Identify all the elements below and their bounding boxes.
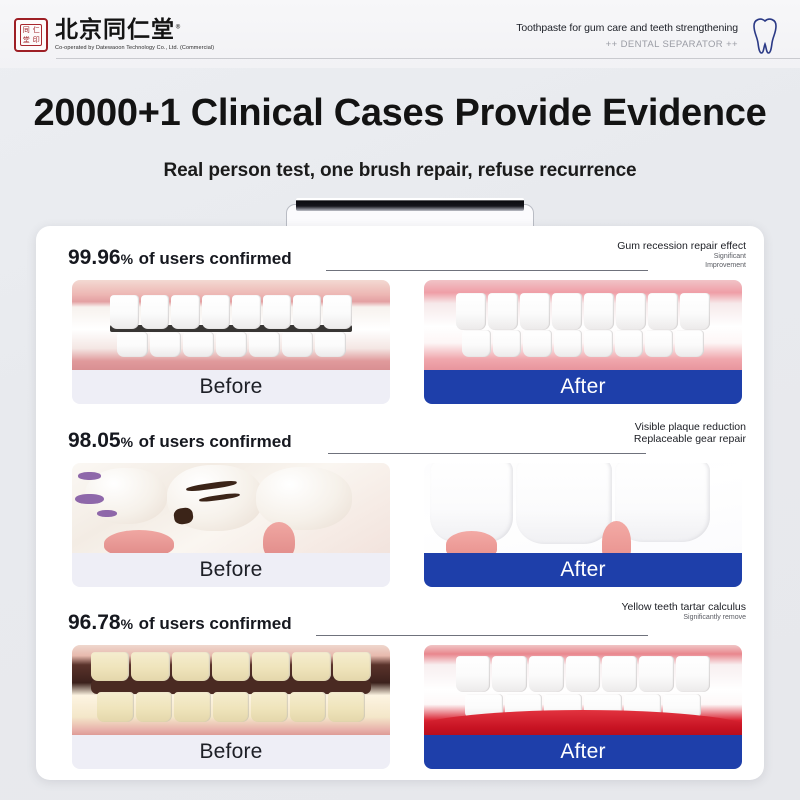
annotation-title: Visible plaque reduction	[634, 421, 746, 433]
annotation-title: Yellow teeth tartar calculus	[621, 601, 746, 613]
brand-name-cn: 北京同仁堂®	[55, 19, 214, 42]
stat-headline: 98.05% of users confirmed	[68, 429, 292, 453]
tooth-icon	[748, 16, 782, 56]
annotation-sub: Improvement	[617, 262, 746, 270]
seal-glyph: 印	[33, 37, 40, 44]
before-photo	[72, 645, 390, 735]
before-panel[interactable]: Before	[72, 280, 390, 404]
annotation-sub: Significant	[617, 253, 746, 261]
percent-sign: %	[121, 251, 133, 267]
percent-sign: %	[121, 616, 133, 632]
stat-headline: 99.96% of users confirmed	[68, 246, 292, 270]
stat-percent: 99.96	[68, 246, 121, 269]
stat-caption: of users confirmed	[139, 614, 292, 633]
annotation-title: Gum recession repair effect	[617, 240, 746, 252]
after-photo	[424, 280, 742, 370]
stat-caption: of users confirmed	[139, 249, 292, 268]
page-title: 20000+1 Clinical Cases Provide Evidence	[0, 92, 800, 135]
after-panel[interactable]: After	[424, 280, 742, 404]
before-photo	[72, 463, 390, 553]
row-annotation: Gum recession repair effect Significant …	[617, 240, 746, 270]
before-panel[interactable]: Before	[72, 645, 390, 769]
seal-glyph: 仁	[33, 27, 40, 34]
brand-logo[interactable]: 同 仁 堂 印 北京同仁堂® Co-operated by Datewaoon …	[14, 18, 214, 52]
brand-name-text: 北京同仁堂	[55, 17, 175, 43]
page-subtitle: Real person test, one brush repair, refu…	[0, 160, 800, 182]
percent-sign: %	[121, 434, 133, 450]
row-annotation: Yellow teeth tartar calculus Significant…	[621, 601, 746, 622]
stat-underline	[316, 635, 648, 636]
promo-page: 同 仁 堂 印 北京同仁堂® Co-operated by Datewaoon …	[0, 0, 800, 800]
before-photo	[72, 280, 390, 370]
stat-underline	[328, 453, 646, 454]
seal-glyph: 堂	[23, 37, 30, 44]
stat-underline	[326, 270, 648, 271]
seal-glyph: 同	[23, 27, 30, 34]
after-label: After	[424, 553, 742, 587]
header-tagline-group: Toothpaste for gum care and teeth streng…	[516, 22, 738, 50]
banner-bar	[296, 198, 524, 211]
before-label: Before	[72, 735, 390, 769]
after-label: After	[424, 370, 742, 404]
stat-percent: 98.05	[68, 429, 121, 452]
stat-headline: 96.78% of users confirmed	[68, 611, 292, 635]
after-photo	[424, 645, 742, 735]
annotation-sub: Replaceable gear repair	[634, 433, 746, 445]
row-annotation: Visible plaque reduction Replaceable gea…	[634, 421, 746, 445]
annotation-sub: Significantly remove	[621, 614, 746, 622]
header-subtagline: ++ DENTAL SEPARATOR ++	[516, 39, 738, 50]
after-panel[interactable]: After	[424, 645, 742, 769]
after-photo	[424, 463, 742, 553]
brand-subtitle-en: Co-operated by Datewaoon Technology Co.,…	[55, 45, 214, 51]
after-label: After	[424, 735, 742, 769]
header-divider	[56, 58, 800, 59]
company-seal-icon: 同 仁 堂 印	[14, 18, 48, 52]
stat-caption: of users confirmed	[139, 432, 292, 451]
after-panel[interactable]: After	[424, 463, 742, 587]
before-label: Before	[72, 553, 390, 587]
evidence-card: 99.96% of users confirmed Gum recession …	[36, 226, 764, 780]
stat-percent: 96.78	[68, 611, 121, 634]
before-label: Before	[72, 370, 390, 404]
header-tagline: Toothpaste for gum care and teeth streng…	[516, 22, 738, 34]
page-header: 同 仁 堂 印 北京同仁堂® Co-operated by Datewaoon …	[0, 0, 800, 68]
trademark-mark: ®	[175, 23, 182, 30]
before-panel[interactable]: Before	[72, 463, 390, 587]
